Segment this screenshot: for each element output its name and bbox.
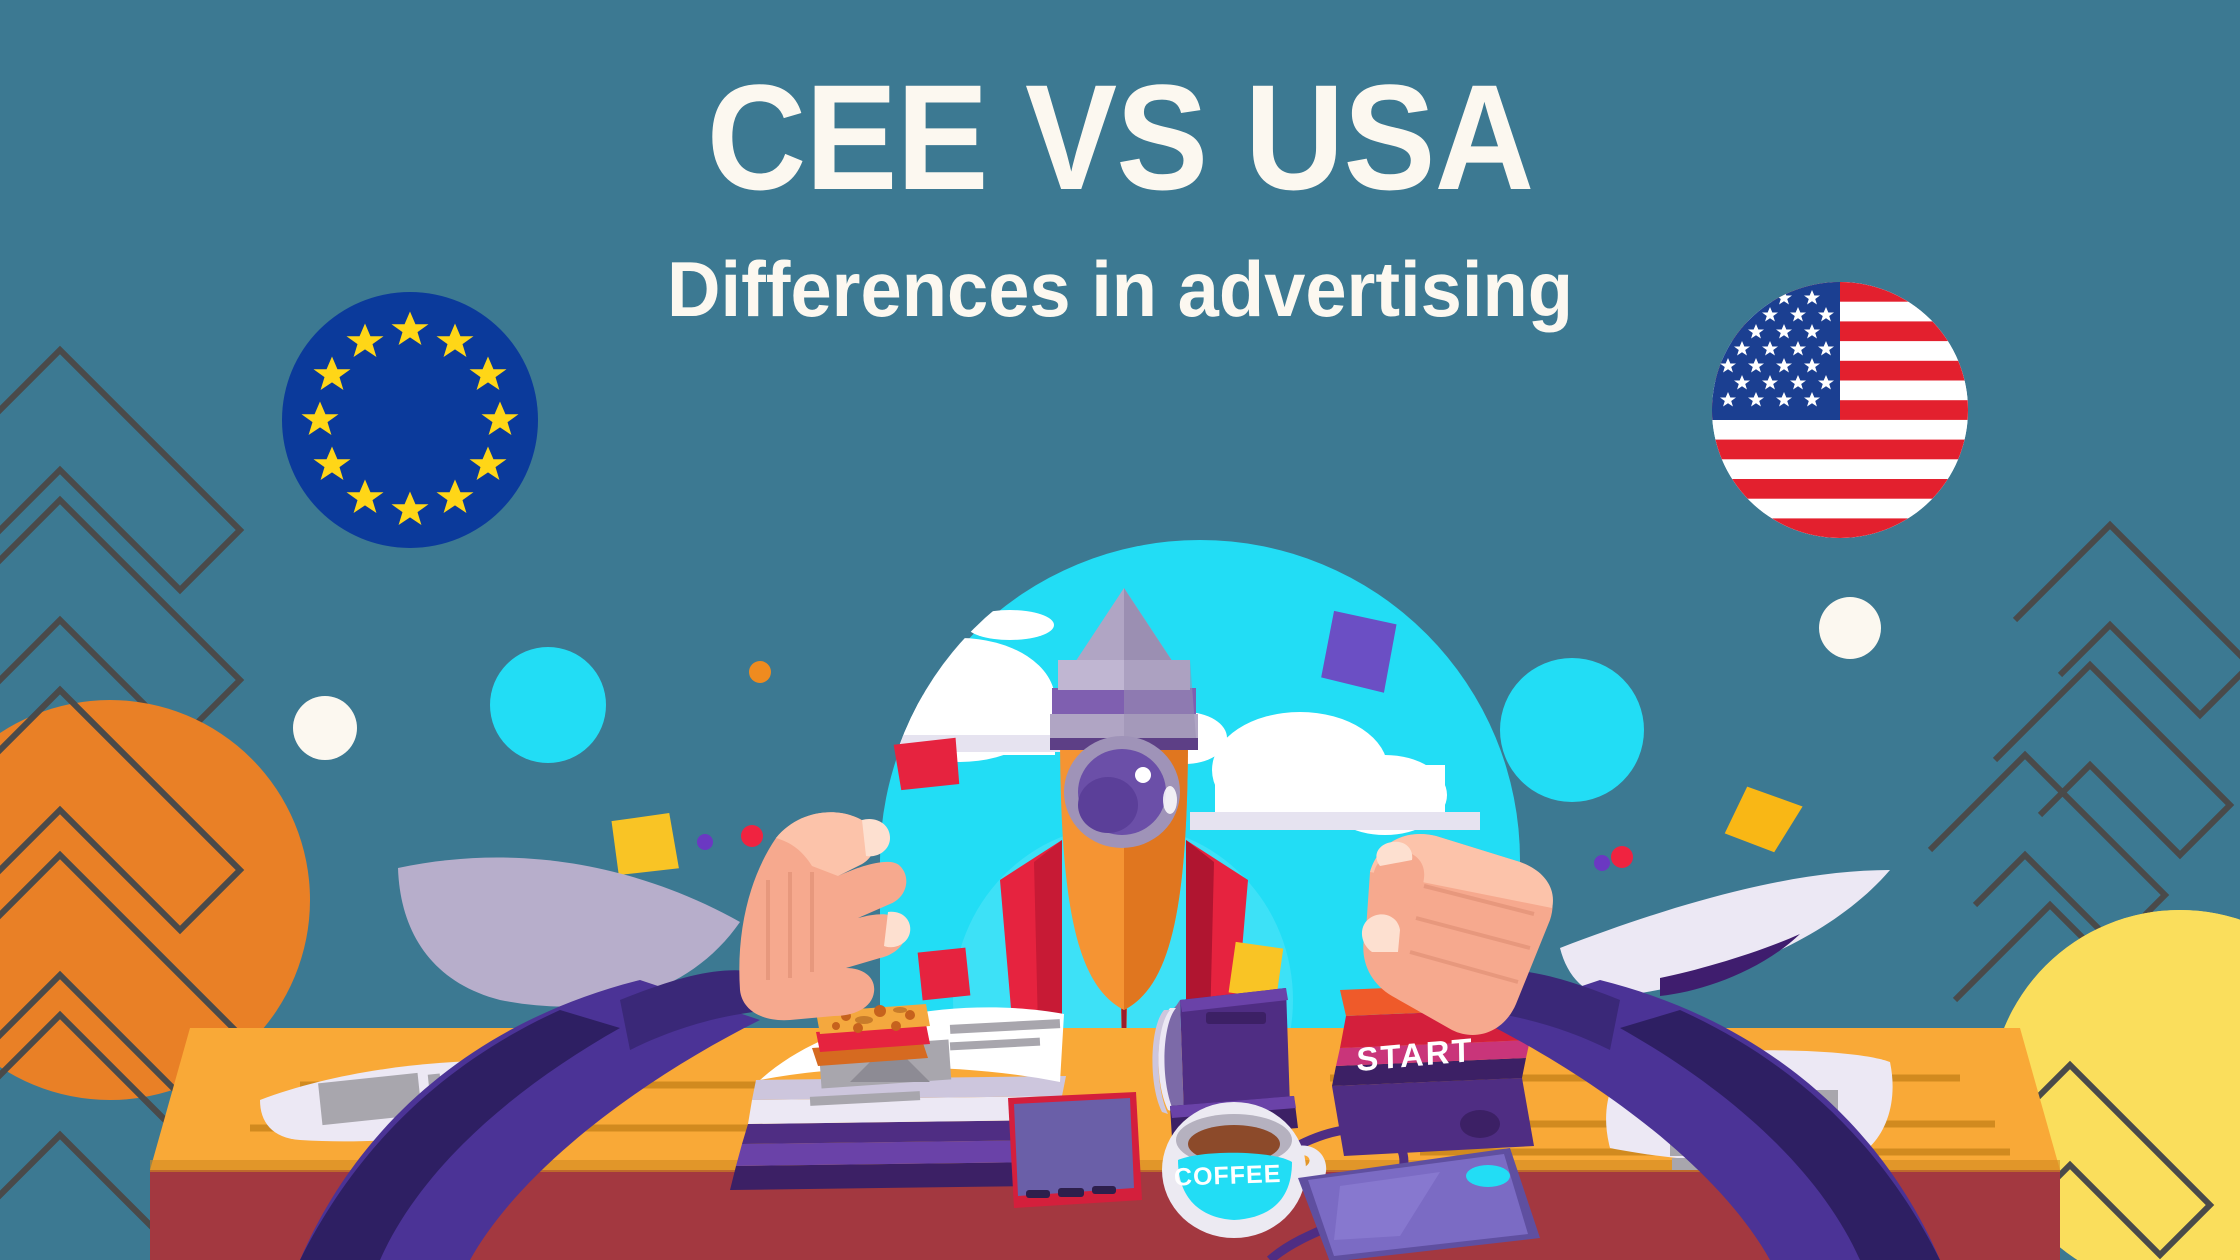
eu-flag-badge [282,292,538,548]
coffee-cup-label: COFFEE [1174,1160,1271,1192]
poster-illustration [0,0,2240,1260]
smartphone [1008,1092,1142,1208]
cyan-circle-right [1500,658,1644,802]
usa-flag-badge [1712,282,1968,538]
red-dot-left [741,825,763,847]
red-dot-right [1611,846,1633,868]
rocket-window-highlight [1135,767,1151,783]
purple-dot-left [697,834,713,850]
white-circle-left [293,696,357,760]
white-circle-right [1819,597,1881,659]
cyan-circle-left [490,647,606,763]
red-confetti-lower [918,948,971,1001]
poster-canvas: CEE VS USA Differences in advertising CO… [0,0,2240,1260]
orange-dot [749,661,771,683]
purple-dot-right [1594,855,1610,871]
